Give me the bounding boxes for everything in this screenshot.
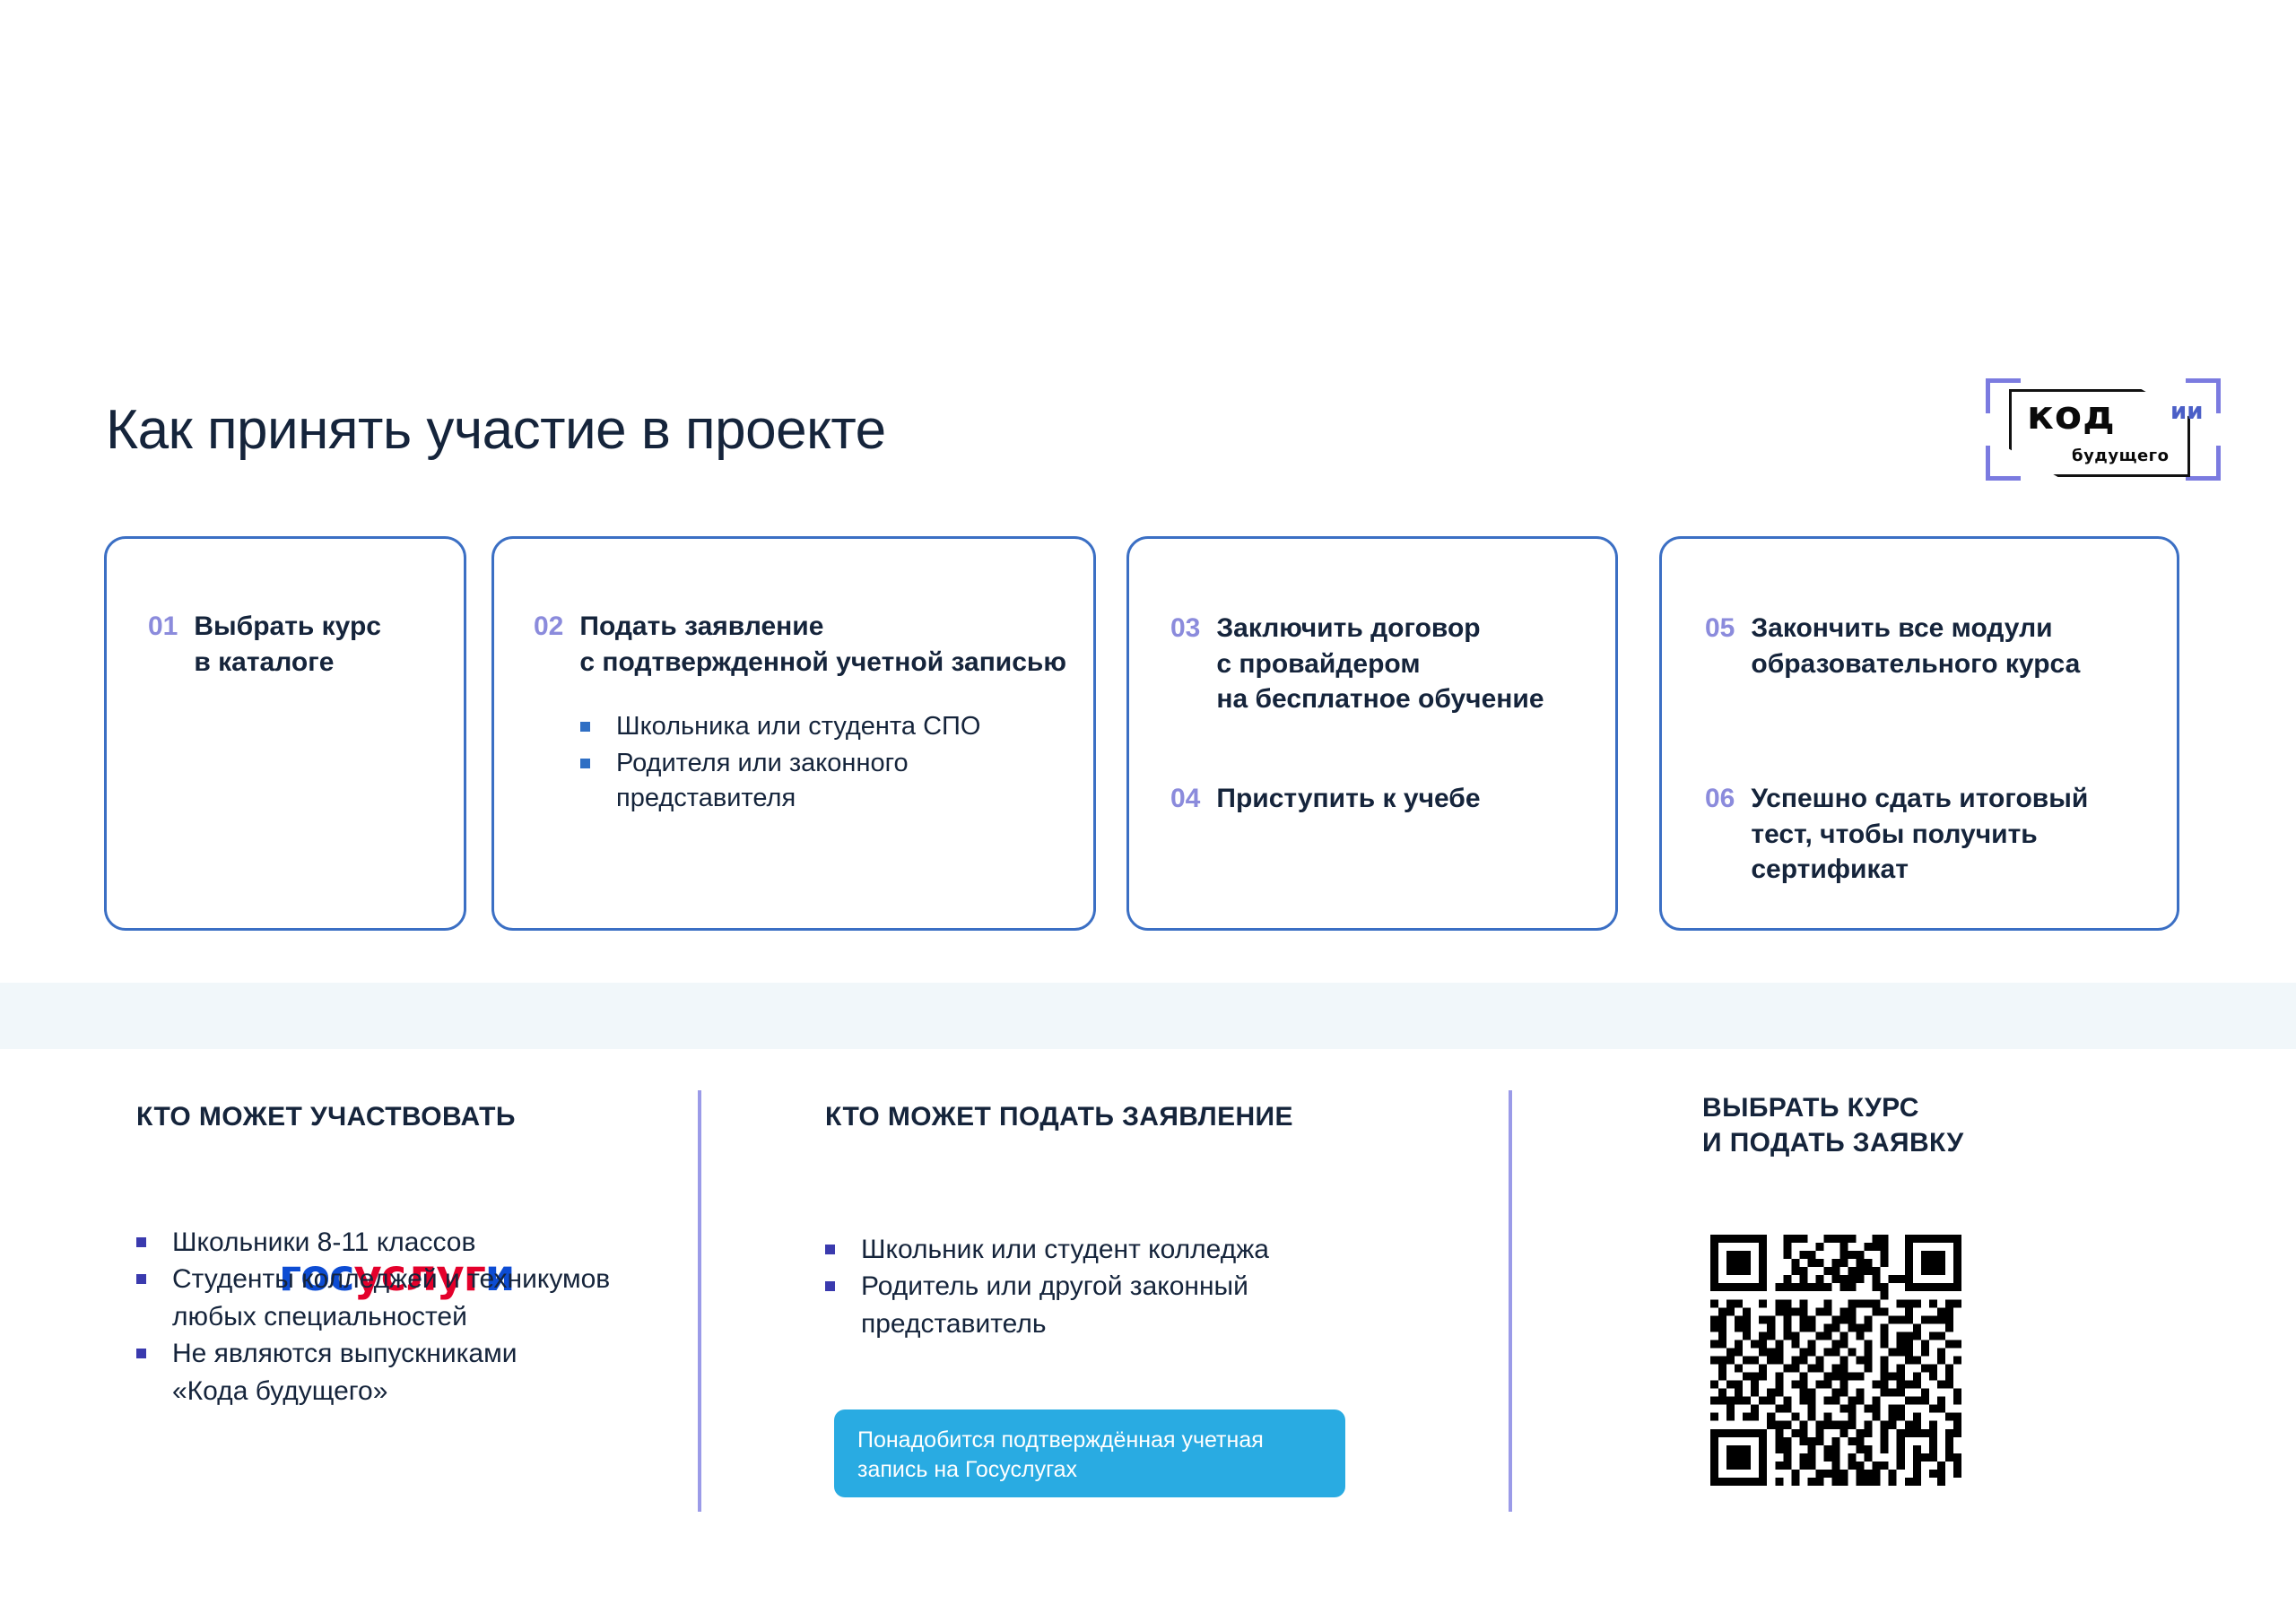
- step-02-bullet-list: Школьника или студента СПО Родителя или …: [580, 709, 980, 818]
- step-06: 06 Успешно сдать итоговый тест, чтобы по…: [1705, 781, 2088, 888]
- column-heading: КТО МОЖЕТ УЧАСТВОВАТЬ: [136, 1099, 674, 1134]
- step-number: 02: [534, 609, 579, 680]
- step-04: 04 Приступить к учебе: [1170, 781, 1481, 817]
- gosuslugi-account-callout: Понадобится подтверждённая учетная запис…: [834, 1409, 1345, 1497]
- step-number: 06: [1705, 781, 1751, 888]
- step-card-03[interactable]: 03 Заключить договор с провайдером на бе…: [1126, 536, 1618, 931]
- step-05: 05 Закончить все модули образовательного…: [1705, 611, 2080, 681]
- column-heading: КТО МОЖЕТ ПОДАТЬ ЗАЯВЛЕНИЕ: [825, 1099, 1381, 1134]
- brand-logo-kod-budushchego: код будущего ии: [1986, 369, 2221, 488]
- column-heading: ВЫБРАТЬ КУРС И ПОДАТЬ ЗАЯВКУ: [1702, 1090, 2205, 1160]
- step-text: Выбрать курс в каталоге: [194, 609, 381, 680]
- step-card-04[interactable]: 05 Закончить все модули образовательного…: [1659, 536, 2179, 931]
- brand-subtitle: будущего: [2072, 448, 2169, 464]
- step-text: Заключить договор с провайдером на беспл…: [1216, 611, 1544, 717]
- list-item: Школьники 8-11 классов: [136, 1224, 674, 1261]
- list-item: Родитель или другой законный представите…: [825, 1268, 1381, 1342]
- step-number: 01: [148, 609, 194, 680]
- column-divider-right: [1509, 1090, 1512, 1512]
- step-03: 03 Заключить договор с провайдером на бе…: [1170, 611, 1544, 717]
- step-number: 04: [1170, 781, 1216, 817]
- participate-bullet-list: Школьники 8-11 классов Студенты колледже…: [136, 1224, 674, 1409]
- step-text: Закончить все модули образовательного ку…: [1751, 611, 2080, 681]
- step-card-02[interactable]: 02 Подать заявление с подтвержденной уче…: [491, 536, 1096, 931]
- column-who-can-participate: КТО МОЖЕТ УЧАСТВОВАТЬ Школьники 8-11 кла…: [136, 1099, 674, 1409]
- list-item: Родителя или законного представителя: [580, 746, 980, 816]
- column-choose-course: ВЫБРАТЬ КУРС И ПОДАТЬ ЗАЯВКУ: [1702, 1090, 2205, 1160]
- qr-code[interactable]: [1702, 1227, 1970, 1494]
- bracket-bottom-right-icon: [2186, 446, 2221, 481]
- step-02: 02 Подать заявление с подтвержденной уче…: [534, 609, 1066, 680]
- page-title: Как принять участие в проекте: [106, 398, 886, 462]
- list-item: Школьника или студента СПО: [580, 709, 980, 744]
- step-01: 01 Выбрать курс в каталоге: [148, 609, 381, 680]
- brand-ai-badge: ии: [2170, 400, 2203, 423]
- list-item: Не являются выпускниками «Кода будущего»: [136, 1335, 674, 1409]
- column-divider-left: [698, 1090, 701, 1512]
- list-item: Студенты колледжей и техникумов любых сп…: [136, 1261, 674, 1335]
- step-text: Подать заявление с подтвержденной учетно…: [579, 609, 1066, 680]
- apply-bullet-list: Школьник или студент колледжа Родитель и…: [825, 1231, 1381, 1342]
- section-divider-band: [0, 983, 2296, 1049]
- list-item: Школьник или студент колледжа: [825, 1231, 1381, 1268]
- step-card-01[interactable]: 01 Выбрать курс в каталоге госуслуги: [104, 536, 466, 931]
- column-who-can-apply: КТО МОЖЕТ ПОДАТЬ ЗАЯВЛЕНИЕ Школьник или …: [825, 1099, 1381, 1342]
- brand-name: код: [2027, 396, 2116, 436]
- step-number: 05: [1705, 611, 1751, 681]
- step-text: Успешно сдать итоговый тест, чтобы получ…: [1751, 781, 2088, 888]
- step-text: Приступить к учебе: [1216, 781, 1480, 817]
- callout-text: Понадобится подтверждённая учетная запис…: [857, 1427, 1264, 1482]
- step-number: 03: [1170, 611, 1216, 717]
